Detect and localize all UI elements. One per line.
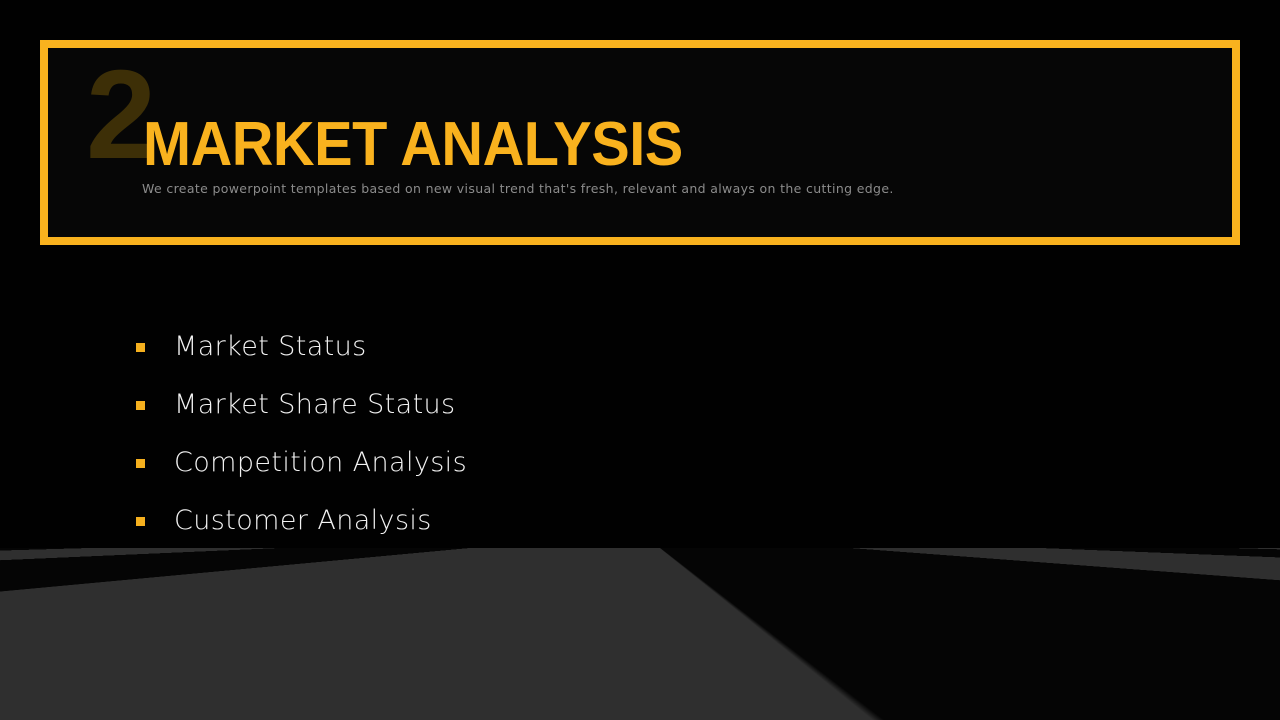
list-item-label: Market Share Status — [174, 390, 456, 420]
list-item[interactable]: Market Status — [136, 318, 936, 376]
list-item[interactable]: Competition Analysis — [136, 434, 936, 492]
list-item[interactable]: Customer Analysis — [136, 492, 936, 550]
page-subtitle: We create powerpoint templates based on … — [142, 181, 894, 197]
list-item[interactable]: Market Share Status — [136, 376, 936, 434]
square-bullet-icon — [136, 459, 145, 468]
square-bullet-icon — [136, 517, 145, 526]
square-bullet-icon — [136, 343, 145, 352]
slide-canvas: 2 MARKET ANALYSIS We create powerpoint t… — [0, 0, 1280, 720]
agenda-list: Market Status Market Share Status Compet… — [136, 318, 936, 550]
header-frame: 2 MARKET ANALYSIS We create powerpoint t… — [40, 40, 1240, 245]
square-bullet-icon — [136, 401, 145, 410]
list-item-label: Market Status — [174, 332, 367, 362]
page-title: MARKET ANALYSIS — [143, 114, 683, 176]
checkerboard-floor — [0, 548, 1280, 720]
list-item-label: Customer Analysis — [174, 506, 432, 536]
list-item-label: Competition Analysis — [174, 448, 467, 478]
